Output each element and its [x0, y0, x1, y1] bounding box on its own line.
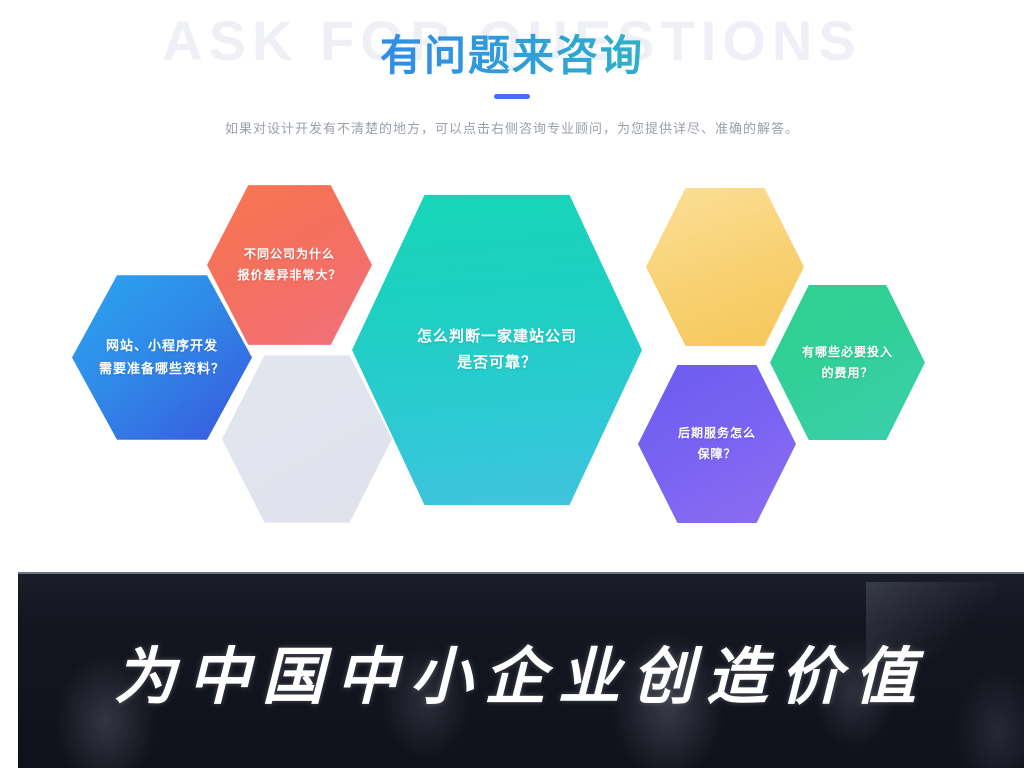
hexagon-label: 怎么判断一家建站公司 是否可靠？ [417, 324, 577, 377]
hexagon-card-decorative-yellow [646, 183, 804, 351]
hexagon-cluster: 网站、小程序开发 需要准备哪些资料？ 不同公司为什么 报价差异非常大？ 怎么判断… [0, 150, 1024, 550]
hexagon-card-after-service[interactable]: 后期服务怎么 保障？ [638, 360, 796, 528]
hexagon-card-reliable-company[interactable]: 怎么判断一家建站公司 是否可靠？ [352, 185, 642, 515]
faq-section: ASK FOR QUESTIONS 有问题来咨询 如果对设计开发有不清楚的地方，… [0, 0, 1024, 572]
hexagon-label: 有哪些必要投入 的费用？ [802, 342, 893, 384]
section-subtitle: 如果对设计开发有不清楚的地方，可以点击右侧咨询专业顾问，为您提供详尽、准确的解答… [0, 118, 1024, 137]
title-underline-divider [494, 94, 530, 99]
hexagon-card-necessary-costs[interactable]: 有哪些必要投入 的费用？ [770, 280, 925, 445]
banner-slogan-text: 为中国中小企业创造价值 [18, 626, 1024, 716]
banner-top-divider [18, 572, 1024, 574]
bottom-slogan-banner: 为中国中小企业创造价值 [18, 572, 1024, 768]
page-title: 有问题来咨询 [0, 22, 1024, 83]
hexagon-label: 后期服务怎么 保障？ [678, 423, 756, 465]
hexagon-label: 网站、小程序开发 需要准备哪些资料？ [99, 335, 225, 381]
hexagon-label: 不同公司为什么 报价差异非常大？ [237, 244, 341, 286]
